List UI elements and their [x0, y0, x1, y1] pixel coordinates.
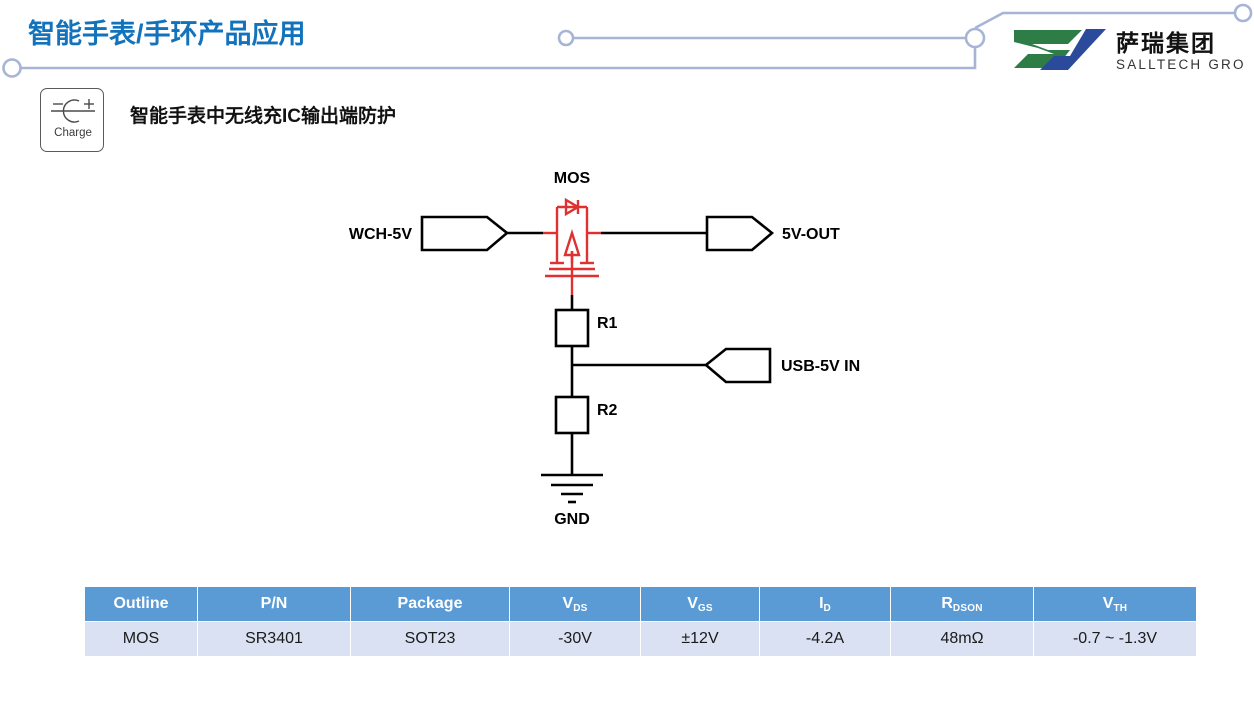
- mosfet-symbol: [543, 200, 601, 295]
- cell-vds: -30V: [510, 622, 641, 657]
- column-header-id: ID: [760, 587, 891, 622]
- circuit-wires: [507, 233, 707, 475]
- spec-table-header-row: Outline P/N Package VDS VGS ID RDSON VTH: [85, 587, 1197, 622]
- logo-mark-icon: [1014, 29, 1106, 70]
- cell-vth: -0.7 ~ -1.3V: [1034, 622, 1197, 657]
- logo-name-en: SALLTECH GROUP: [1116, 57, 1244, 72]
- cell-pn: SR3401: [198, 622, 351, 657]
- logo-name-cn: 萨瑞集团: [1116, 30, 1216, 56]
- cell-package: SOT23: [351, 622, 510, 657]
- decor-node-corner: [1235, 5, 1251, 21]
- cell-rdson: 48mΩ: [891, 622, 1034, 657]
- column-header-package: Package: [351, 587, 510, 622]
- decor-node-mid: [559, 31, 573, 45]
- column-header-vds: VDS: [510, 587, 641, 622]
- charge-icon: [41, 93, 105, 125]
- connector-wch-5v: [422, 217, 507, 250]
- cell-outline: MOS: [85, 622, 198, 657]
- ground-symbol: [541, 475, 603, 502]
- out-5v-label: 5V-OUT: [782, 226, 840, 243]
- resistor-r2: [556, 397, 588, 433]
- spec-table: Outline P/N Package VDS VGS ID RDSON VTH…: [84, 586, 1197, 657]
- column-header-vth: VTH: [1034, 587, 1197, 622]
- cell-id: -4.2A: [760, 622, 891, 657]
- usb-5v-label: USB-5V IN: [781, 358, 860, 375]
- circuit-diagram: R1 R2 GND MOS WCH-5V 5V-OUT USB-5V IN: [0, 155, 1254, 555]
- column-header-outline: Outline: [85, 587, 198, 622]
- mos-label: MOS: [554, 170, 591, 187]
- column-header-rdson: RDSON: [891, 587, 1034, 622]
- table-row: MOS SR3401 SOT23 -30V ±12V -4.2A 48mΩ -0…: [85, 622, 1197, 657]
- decor-node-left: [4, 60, 21, 77]
- charge-badge-caption: Charge: [41, 127, 105, 139]
- wch-5v-label: WCH-5V: [349, 226, 412, 243]
- resistor-r1-label: R1: [597, 315, 618, 332]
- charge-badge: Charge: [40, 88, 104, 152]
- column-header-pn: P/N: [198, 587, 351, 622]
- page-title: 智能手表/手环产品应用: [28, 12, 306, 51]
- connector-usb-5v-in: [706, 349, 770, 382]
- slide-canvas: 智能手表/手环产品应用 萨瑞集团 SALLTECH GROUP Charge 智…: [0, 0, 1254, 706]
- resistor-r2-label: R2: [597, 402, 618, 419]
- column-header-vgs: VGS: [641, 587, 760, 622]
- brand-logo: 萨瑞集团 SALLTECH GROUP: [1008, 24, 1244, 74]
- cell-vgs: ±12V: [641, 622, 760, 657]
- decor-node-right: [966, 29, 984, 47]
- connector-5v-out: [707, 217, 772, 250]
- gnd-label: GND: [554, 511, 590, 528]
- resistor-r1: [556, 310, 588, 346]
- section-title: 智能手表中无线充IC输出端防护: [130, 101, 396, 128]
